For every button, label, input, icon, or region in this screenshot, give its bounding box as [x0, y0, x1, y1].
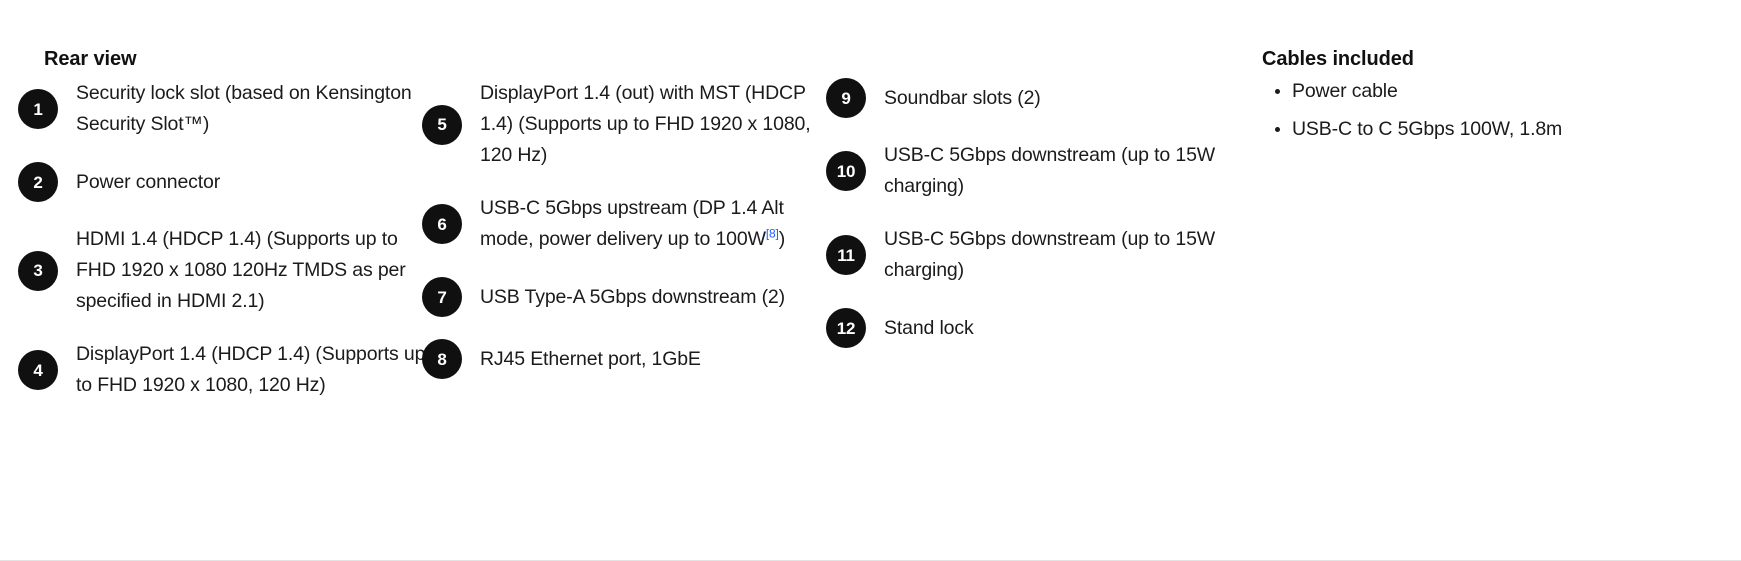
- port-number-badge: 10: [826, 151, 866, 191]
- port-description-text: USB-C 5Gbps upstream (DP 1.4 Alt mode, p…: [480, 197, 784, 250]
- port-number-badge: 2: [18, 162, 58, 202]
- port-number-badge: 7: [422, 277, 462, 317]
- port-number-badge: 9: [826, 78, 866, 118]
- port-item: 3HDMI 1.4 (HDCP 1.4) (Supports up to FHD…: [18, 224, 438, 317]
- port-item: 7USB Type-A 5Gbps downstream (2): [422, 277, 842, 317]
- port-description: Stand lock: [884, 313, 974, 344]
- port-description-text: Soundbar slots (2): [884, 87, 1041, 109]
- port-item: 12Stand lock: [826, 308, 1246, 348]
- port-item: 2Power connector: [18, 162, 438, 202]
- port-number-badge: 1: [18, 89, 58, 129]
- spec-sheet-page: Rear view Cables included 1Security lock…: [0, 0, 1741, 561]
- port-item: 11USB-C 5Gbps downstream (up to 15W char…: [826, 224, 1246, 286]
- port-number-badge: 4: [18, 350, 58, 390]
- port-description: RJ45 Ethernet port, 1GbE: [480, 344, 701, 375]
- port-description: Power connector: [76, 167, 220, 198]
- port-description-text: HDMI 1.4 (HDCP 1.4) (Supports up to FHD …: [76, 228, 406, 312]
- port-description-text: DisplayPort 1.4 (HDCP 1.4) (Supports up …: [76, 343, 425, 396]
- port-number-badge: 5: [422, 105, 462, 145]
- port-item: 1Security lock slot (based on Kensington…: [18, 78, 438, 140]
- port-description: USB-C 5Gbps downstream (up to 15W chargi…: [884, 224, 1234, 286]
- port-description-text: Stand lock: [884, 317, 974, 339]
- port-description: Security lock slot (based on Kensington …: [76, 78, 426, 140]
- port-description: USB-C 5Gbps downstream (up to 15W chargi…: [884, 140, 1234, 202]
- port-item: 4DisplayPort 1.4 (HDCP 1.4) (Supports up…: [18, 339, 438, 401]
- port-description: DisplayPort 1.4 (HDCP 1.4) (Supports up …: [76, 339, 426, 401]
- port-description-text: DisplayPort 1.4 (out) with MST (HDCP 1.4…: [480, 82, 810, 166]
- port-item: 6USB-C 5Gbps upstream (DP 1.4 Alt mode, …: [422, 193, 842, 255]
- port-description: HDMI 1.4 (HDCP 1.4) (Supports up to FHD …: [76, 224, 426, 317]
- port-description: USB-C 5Gbps upstream (DP 1.4 Alt mode, p…: [480, 193, 830, 255]
- list-item: USB-C to C 5Gbps 100W, 1.8m: [1292, 110, 1562, 148]
- port-list-column-3: 9Soundbar slots (2)10USB-C 5Gbps downstr…: [826, 78, 1246, 370]
- port-description-text: USB-C 5Gbps downstream (up to 15W chargi…: [884, 228, 1215, 281]
- port-number-badge: 11: [826, 235, 866, 275]
- port-description: USB Type-A 5Gbps downstream (2): [480, 282, 785, 313]
- cables-included-list: Power cableUSB-C to C 5Gbps 100W, 1.8m: [1262, 72, 1562, 148]
- port-item: 5DisplayPort 1.4 (out) with MST (HDCP 1.…: [422, 78, 842, 171]
- port-description-text: Security lock slot (based on Kensington …: [76, 82, 412, 135]
- port-description-text: USB Type-A 5Gbps downstream (2): [480, 286, 785, 308]
- port-description-text-tail: ): [779, 228, 785, 250]
- port-number-badge: 12: [826, 308, 866, 348]
- port-description-text: RJ45 Ethernet port, 1GbE: [480, 348, 701, 370]
- port-description: DisplayPort 1.4 (out) with MST (HDCP 1.4…: [480, 78, 830, 171]
- port-number-badge: 6: [422, 204, 462, 244]
- port-number-badge: 3: [18, 251, 58, 291]
- page-title-cables-included: Cables included: [1262, 47, 1414, 71]
- port-list-column-2: 5DisplayPort 1.4 (out) with MST (HDCP 1.…: [422, 78, 842, 401]
- page-title-rear-view: Rear view: [44, 47, 137, 71]
- list-item: Power cable: [1292, 72, 1562, 110]
- port-list-column-1: 1Security lock slot (based on Kensington…: [18, 78, 438, 423]
- port-description-text: USB-C 5Gbps downstream (up to 15W chargi…: [884, 144, 1215, 197]
- port-item: 8RJ45 Ethernet port, 1GbE: [422, 339, 842, 379]
- port-item: 10USB-C 5Gbps downstream (up to 15W char…: [826, 140, 1246, 202]
- port-description-text: Power connector: [76, 171, 220, 193]
- port-description: Soundbar slots (2): [884, 83, 1041, 114]
- port-number-badge: 8: [422, 339, 462, 379]
- port-item: 9Soundbar slots (2): [826, 78, 1246, 118]
- footnote-reference-link[interactable]: [8]: [766, 227, 779, 241]
